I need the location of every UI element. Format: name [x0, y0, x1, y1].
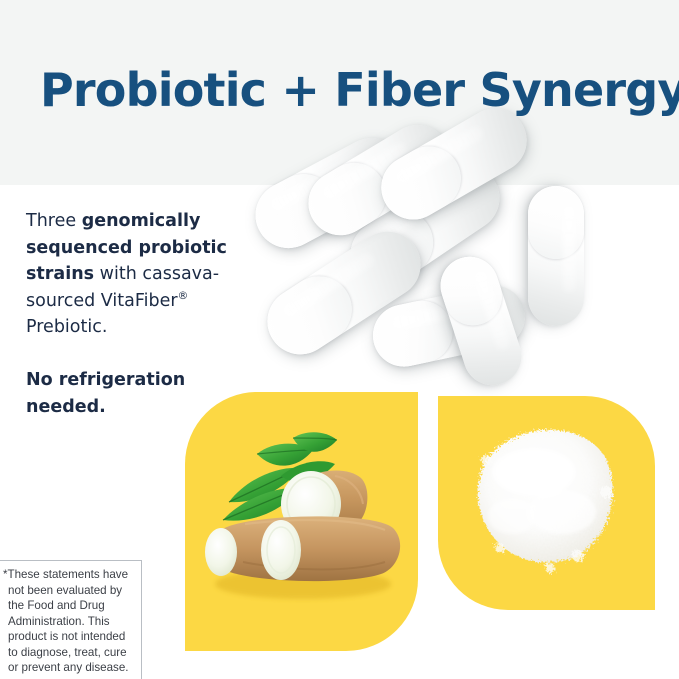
fiber-powder-illustration — [438, 396, 655, 610]
product-infographic: Probiotic + Fiber Synergy Three genomica… — [0, 0, 679, 679]
registered-mark: ® — [178, 289, 189, 302]
capsule-icon — [528, 186, 584, 326]
cassava-root-lower — [205, 516, 400, 581]
cassava-root-illustration — [185, 392, 418, 651]
page-title: Probiotic + Fiber Synergy — [40, 63, 679, 117]
fda-disclaimer: *These statements have not been evaluate… — [0, 560, 142, 679]
lead-text-part3: Prebiotic. — [26, 317, 107, 337]
lead-paragraph: Three genomically sequenced probiotic st… — [26, 208, 256, 341]
lead-text-part1: Three — [26, 211, 82, 231]
powder-image-panel — [438, 396, 655, 610]
cassava-image-panel — [185, 392, 418, 651]
copy-block: Three genomically sequenced probiotic st… — [26, 208, 256, 420]
no-refrigeration-highlight: No refrigeration needed. — [26, 367, 256, 420]
capsule-product-photo — [250, 140, 679, 420]
